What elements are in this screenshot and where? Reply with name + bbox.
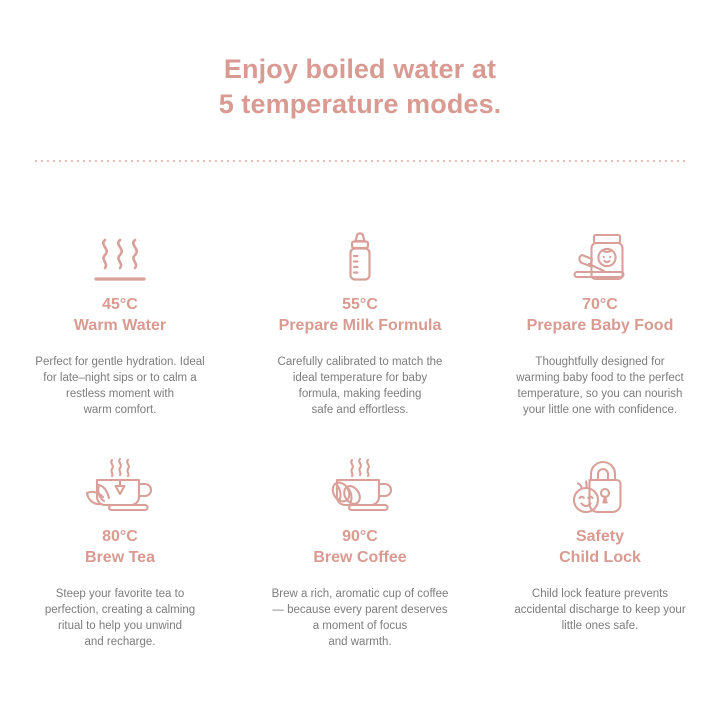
card-temperature: Safety — [559, 526, 641, 547]
dotted-divider — [33, 160, 688, 162]
description-line: for late–night sips or to calm a — [35, 370, 204, 386]
steam-lines-icon — [89, 216, 151, 288]
child-lock-icon — [567, 448, 633, 520]
feature-card-baby-food: 70°C Prepare Baby Food Thoughtfully desi… — [480, 216, 720, 448]
card-description: Child lock feature prevents accidental d… — [514, 586, 685, 634]
tea-cup-icon — [81, 448, 159, 520]
card-title: Brew Coffee — [313, 547, 406, 568]
description-line: warming baby food to the perfect — [516, 370, 684, 386]
feature-card-warm-water: 45°C Warm Water Perfect for gentle hydra… — [0, 216, 240, 448]
description-line: formula, making feeding — [278, 386, 443, 402]
feature-card-child-lock: Safety Child Lock Child lock feature pre… — [480, 448, 720, 680]
card-description: Brew a rich, aromatic cup of coffee — be… — [272, 586, 449, 650]
card-description: Carefully calibrated to match the ideal … — [278, 354, 443, 418]
feature-card-brew-tea: 80°C Brew Tea Steep your favorite tea to… — [0, 448, 240, 680]
card-temperature: 70°C — [527, 294, 674, 315]
card-title: Prepare Baby Food — [527, 315, 674, 336]
temperature-modes-infographic: Enjoy boiled water at 5 temperature mode… — [0, 0, 720, 720]
feature-card-milk-formula: 55°C Prepare Milk Formula Carefully cali… — [240, 216, 480, 448]
description-line: and warmth. — [272, 634, 449, 650]
description-line: restless moment with — [35, 386, 204, 402]
description-line: ideal temperature for baby — [278, 370, 443, 386]
page-title-line-1: Enjoy boiled water at — [224, 54, 496, 84]
card-heading: 90°C Brew Coffee — [313, 526, 406, 568]
description-line: your little one with confidence. — [516, 402, 684, 418]
description-line: perfection, creating a calming — [45, 602, 195, 618]
description-line: safe and effortless. — [278, 402, 443, 418]
page-title: Enjoy boiled water at 5 temperature mode… — [0, 52, 720, 122]
card-title: Brew Tea — [85, 547, 155, 568]
coffee-cup-icon — [321, 448, 399, 520]
description-line: a moment of focus — [272, 618, 449, 634]
card-title: Warm Water — [74, 315, 166, 336]
card-heading: 55°C Prepare Milk Formula — [279, 294, 442, 336]
description-line: Steep your favorite tea to — [45, 586, 195, 602]
description-line: temperature, so you can nourish — [516, 386, 684, 402]
card-temperature: 45°C — [74, 294, 166, 315]
card-heading: 80°C Brew Tea — [85, 526, 155, 568]
card-title: Prepare Milk Formula — [279, 315, 442, 336]
card-heading: Safety Child Lock — [559, 526, 641, 568]
card-description: Steep your favorite tea to perfection, c… — [45, 586, 195, 650]
card-description: Thoughtfully designed for warming baby f… — [516, 354, 684, 418]
feature-card-grid: 45°C Warm Water Perfect for gentle hydra… — [0, 216, 720, 680]
description-line: accidental discharge to keep your — [514, 602, 685, 618]
description-line: — because every parent deserves — [272, 602, 449, 618]
card-title: Child Lock — [559, 547, 641, 568]
baby-food-jar-icon — [564, 216, 636, 288]
description-line: Perfect for gentle hydration. Ideal — [35, 354, 204, 370]
description-line: Brew a rich, aromatic cup of coffee — [272, 586, 449, 602]
description-line: ritual to help you unwind — [45, 618, 195, 634]
card-temperature: 90°C — [313, 526, 406, 547]
description-line: and recharge. — [45, 634, 195, 650]
card-temperature: 80°C — [85, 526, 155, 547]
card-heading: 45°C Warm Water — [74, 294, 166, 336]
feature-card-brew-coffee: 90°C Brew Coffee Brew a rich, aromatic c… — [240, 448, 480, 680]
card-description: Perfect for gentle hydration. Ideal for … — [35, 354, 204, 418]
card-heading: 70°C Prepare Baby Food — [527, 294, 674, 336]
description-line: Child lock feature prevents — [514, 586, 685, 602]
description-line: warm comfort. — [35, 402, 204, 418]
page-title-line-2: 5 temperature modes. — [0, 87, 720, 122]
card-temperature: 55°C — [279, 294, 442, 315]
description-line: Carefully calibrated to match the — [278, 354, 443, 370]
description-line: Thoughtfully designed for — [516, 354, 684, 370]
description-line: little ones safe. — [514, 618, 685, 634]
baby-bottle-icon — [329, 216, 391, 288]
